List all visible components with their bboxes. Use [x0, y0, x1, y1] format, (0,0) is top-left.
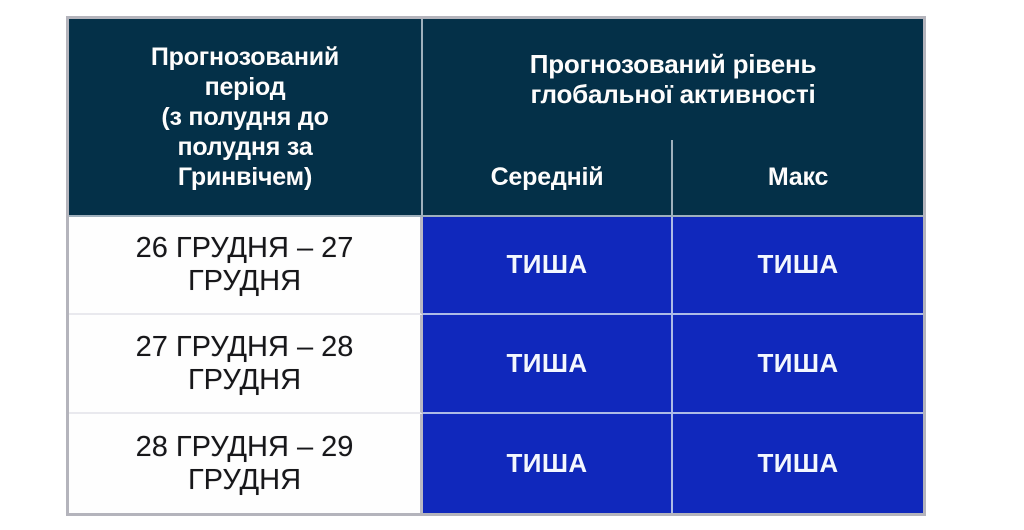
period-line-2: ГРУДНЯ — [69, 364, 420, 397]
period-line-2: ГРУДНЯ — [69, 464, 420, 497]
header-period-line-3: (з полудня до — [69, 102, 421, 132]
header-activity-line-2: глобальної активності — [423, 79, 923, 109]
page-root: Прогнозований період (з полудня до полуд… — [0, 0, 1024, 530]
header-activity-cell: Прогнозований рівень глобальної активнос… — [423, 19, 923, 140]
table-row: 27 ГРУДНЯ – 28 ГРУДНЯ ТИША ТИША — [69, 315, 923, 414]
level-average-cell: ТИША — [423, 217, 673, 316]
level-max-cell: ТИША — [673, 414, 923, 513]
header-period-line-2: період — [69, 72, 421, 102]
table-header-row-primary: Прогнозований період (з полудня до полуд… — [69, 19, 923, 140]
period-cell: 28 ГРУДНЯ – 29 ГРУДНЯ — [69, 414, 423, 513]
period-line-2: ГРУДНЯ — [69, 265, 420, 298]
header-period-line-4: полудня за — [69, 132, 421, 162]
period-line-1: 26 ГРУДНЯ – 27 — [69, 232, 420, 265]
period-cell: 26 ГРУДНЯ – 27 ГРУДНЯ — [69, 217, 423, 316]
period-line-1: 27 ГРУДНЯ – 28 — [69, 331, 420, 364]
header-column-max: Макс — [673, 140, 923, 217]
header-period-line-5: Гринвічем) — [69, 162, 421, 192]
table-row: 26 ГРУДНЯ – 27 ГРУДНЯ ТИША ТИША — [69, 217, 923, 316]
period-line-1: 28 ГРУДНЯ – 29 — [69, 431, 420, 464]
header-column-average: Середній — [423, 140, 673, 217]
header-activity-line-1: Прогнозований рівень — [423, 49, 923, 79]
header-period-cell: Прогнозований період (з полудня до полуд… — [69, 19, 423, 217]
level-average-cell: ТИША — [423, 414, 673, 513]
level-average-cell: ТИША — [423, 315, 673, 414]
period-cell: 27 ГРУДНЯ – 28 ГРУДНЯ — [69, 315, 423, 414]
table-row: 28 ГРУДНЯ – 29 ГРУДНЯ ТИША ТИША — [69, 414, 923, 513]
level-max-cell: ТИША — [673, 217, 923, 316]
geomagnetic-forecast-table: Прогнозований період (з полудня до полуд… — [66, 16, 926, 516]
header-period-line-1: Прогнозований — [69, 42, 421, 72]
level-max-cell: ТИША — [673, 315, 923, 414]
